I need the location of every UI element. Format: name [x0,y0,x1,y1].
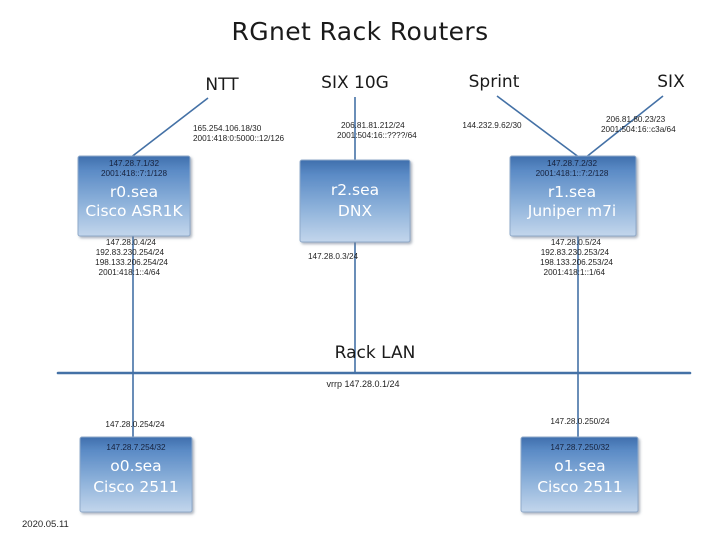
six10g-address-v6: 2001:504:16::????/64 [337,131,417,140]
r1-hostname: r1.sea [548,183,596,201]
r0-downlink-addr-2: 198.133.206.254/24 [95,258,168,267]
r1-downlink-addresses: 147.28.0.5/24 192.83.230.253/24 198.133.… [540,238,613,277]
peer-label-six: SIX [657,72,685,92]
r2-downlink-addr-0: 147.28.0.3/24 [308,252,359,261]
r1-downlink-addr-3: 2001:418:1::1/64 [544,268,606,277]
router-box-r2[interactable] [300,160,410,242]
r2-hostname: r2.sea [331,181,379,199]
rack-lan-vrrp-address: vrrp 147.28.0.1/24 [326,379,399,389]
console-node-o0[interactable]: 147.28.7.254/32 o0.sea Cisco 2511 [80,437,192,512]
console-node-o1[interactable]: 147.28.7.250/32 o1.sea Cisco 2511 [521,437,638,512]
six10g-address-v4: 206.81.81.212/24 [341,121,405,130]
r0-loopback-v6: 2001:418::7:1/128 [101,169,167,178]
o1-model: Cisco 2511 [537,478,623,496]
r1-downlink-addr-0: 147.28.0.5/24 [551,238,602,247]
r2-model: DNX [338,202,373,220]
o1-loopback-v4: 147.28.7.250/32 [550,443,610,452]
router-node-r2[interactable]: r2.sea DNX [300,160,410,242]
r0-model: Cisco ASR1K [85,202,183,220]
peer-addresses-six: 206.81.80.23/23 2001:504:16::c3a/64 [601,115,676,134]
sprint-address-v4: 144.232.9.62/30 [462,121,522,130]
page-title: RGnet Rack Routers [231,17,488,46]
r1-downlink-addr-1: 192.83.230.253/24 [541,248,610,257]
rack-lan-label: Rack LAN [335,343,416,363]
r0-downlink-addr-3: 2001:418:1::4/64 [99,268,161,277]
o1-uplink-address: 147.28.0.250/24 [550,417,610,426]
peer-label-six10g: SIX 10G [321,73,389,93]
date-stamp: 2020.05.11 [22,519,69,530]
r2-downlink-addresses: 147.28.0.3/24 [308,252,359,261]
ntt-address-v4: 165.254.106.18/30 [193,124,262,133]
r1-downlink-addr-2: 198.133.206.253/24 [540,258,613,267]
r0-hostname: r0.sea [110,183,158,201]
o1-hostname: o1.sea [554,457,605,475]
o0-model: Cisco 2511 [93,478,179,496]
peer-label-ntt: NTT [205,75,239,95]
six-address-v4: 206.81.80.23/23 [606,115,666,124]
o0-hostname: o0.sea [110,457,161,475]
six-address-v6: 2001:504:16::c3a/64 [601,125,676,134]
ntt-address-v6: 2001:418:0:5000::12/126 [193,134,285,143]
peer-addresses-ntt: 165.254.106.18/30 2001:418:0:5000::12/12… [193,124,285,143]
peer-addresses-sprint: 144.232.9.62/30 [462,121,522,130]
r1-loopback-v6: 2001:418:1::7:2/128 [536,169,609,178]
r1-loopback-v4: 147.28.7.2/32 [547,159,598,168]
network-diagram: RGnet Rack Routers NTT SIX 10G Sprint SI… [0,0,720,540]
r0-loopback-v4: 147.28.7.1/32 [109,159,160,168]
o0-loopback-v4: 147.28.7.254/32 [106,443,166,452]
peer-label-sprint: Sprint [469,72,520,92]
router-node-r1[interactable]: 147.28.7.2/32 2001:418:1::7:2/128 r1.sea… [510,156,636,236]
peer-addresses-six10g: 206.81.81.212/24 2001:504:16::????/64 [337,121,417,140]
o0-uplink-address: 147.28.0.254/24 [105,420,165,429]
r0-downlink-addresses: 147.28.0.4/24 192.83.230.254/24 198.133.… [95,238,168,277]
r0-downlink-addr-0: 147.28.0.4/24 [106,238,157,247]
r0-downlink-addr-1: 192.83.230.254/24 [96,248,165,257]
r1-model: Juniper m7i [527,202,616,220]
router-node-r0[interactable]: 147.28.7.1/32 2001:418::7:1/128 r0.sea C… [78,156,190,236]
